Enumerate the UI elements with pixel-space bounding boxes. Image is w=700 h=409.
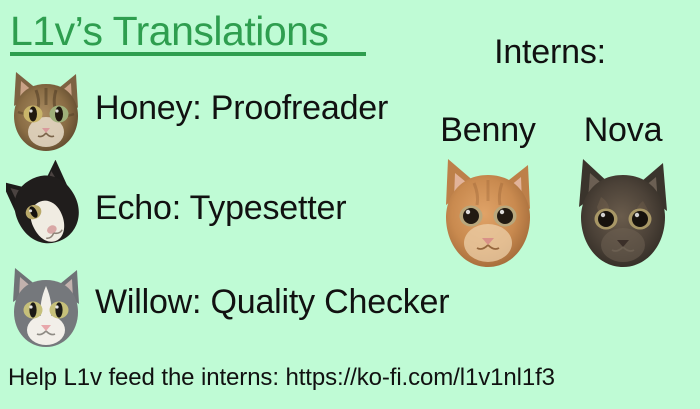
title-underline (10, 52, 366, 56)
support-link-text[interactable]: Help L1v feed the interns: https://ko-fi… (8, 363, 555, 393)
intern-benny: Benny (423, 110, 553, 273)
intern-name-benny: Benny (423, 110, 553, 150)
cat-face-honey-icon (6, 66, 86, 154)
cat-face-willow-icon (6, 262, 86, 350)
intern-nova: Nova (558, 110, 688, 273)
staff-label-honey: Honey: Proofreader (95, 88, 388, 128)
staff-label-willow: Willow: Quality Checker (95, 282, 449, 322)
cat-face-echo-icon (6, 160, 86, 248)
page-title: L1v’s Translations (10, 8, 328, 54)
interns-heading: Interns: (410, 32, 690, 72)
staff-row-willow: Willow: Quality Checker (0, 262, 540, 352)
credits-card: L1v’s Translations (0, 0, 700, 409)
staff-label-echo: Echo: Typesetter (95, 188, 346, 228)
cat-face-nova-icon (571, 153, 675, 273)
cat-face-benny-icon (436, 153, 540, 273)
intern-name-nova: Nova (558, 110, 688, 150)
